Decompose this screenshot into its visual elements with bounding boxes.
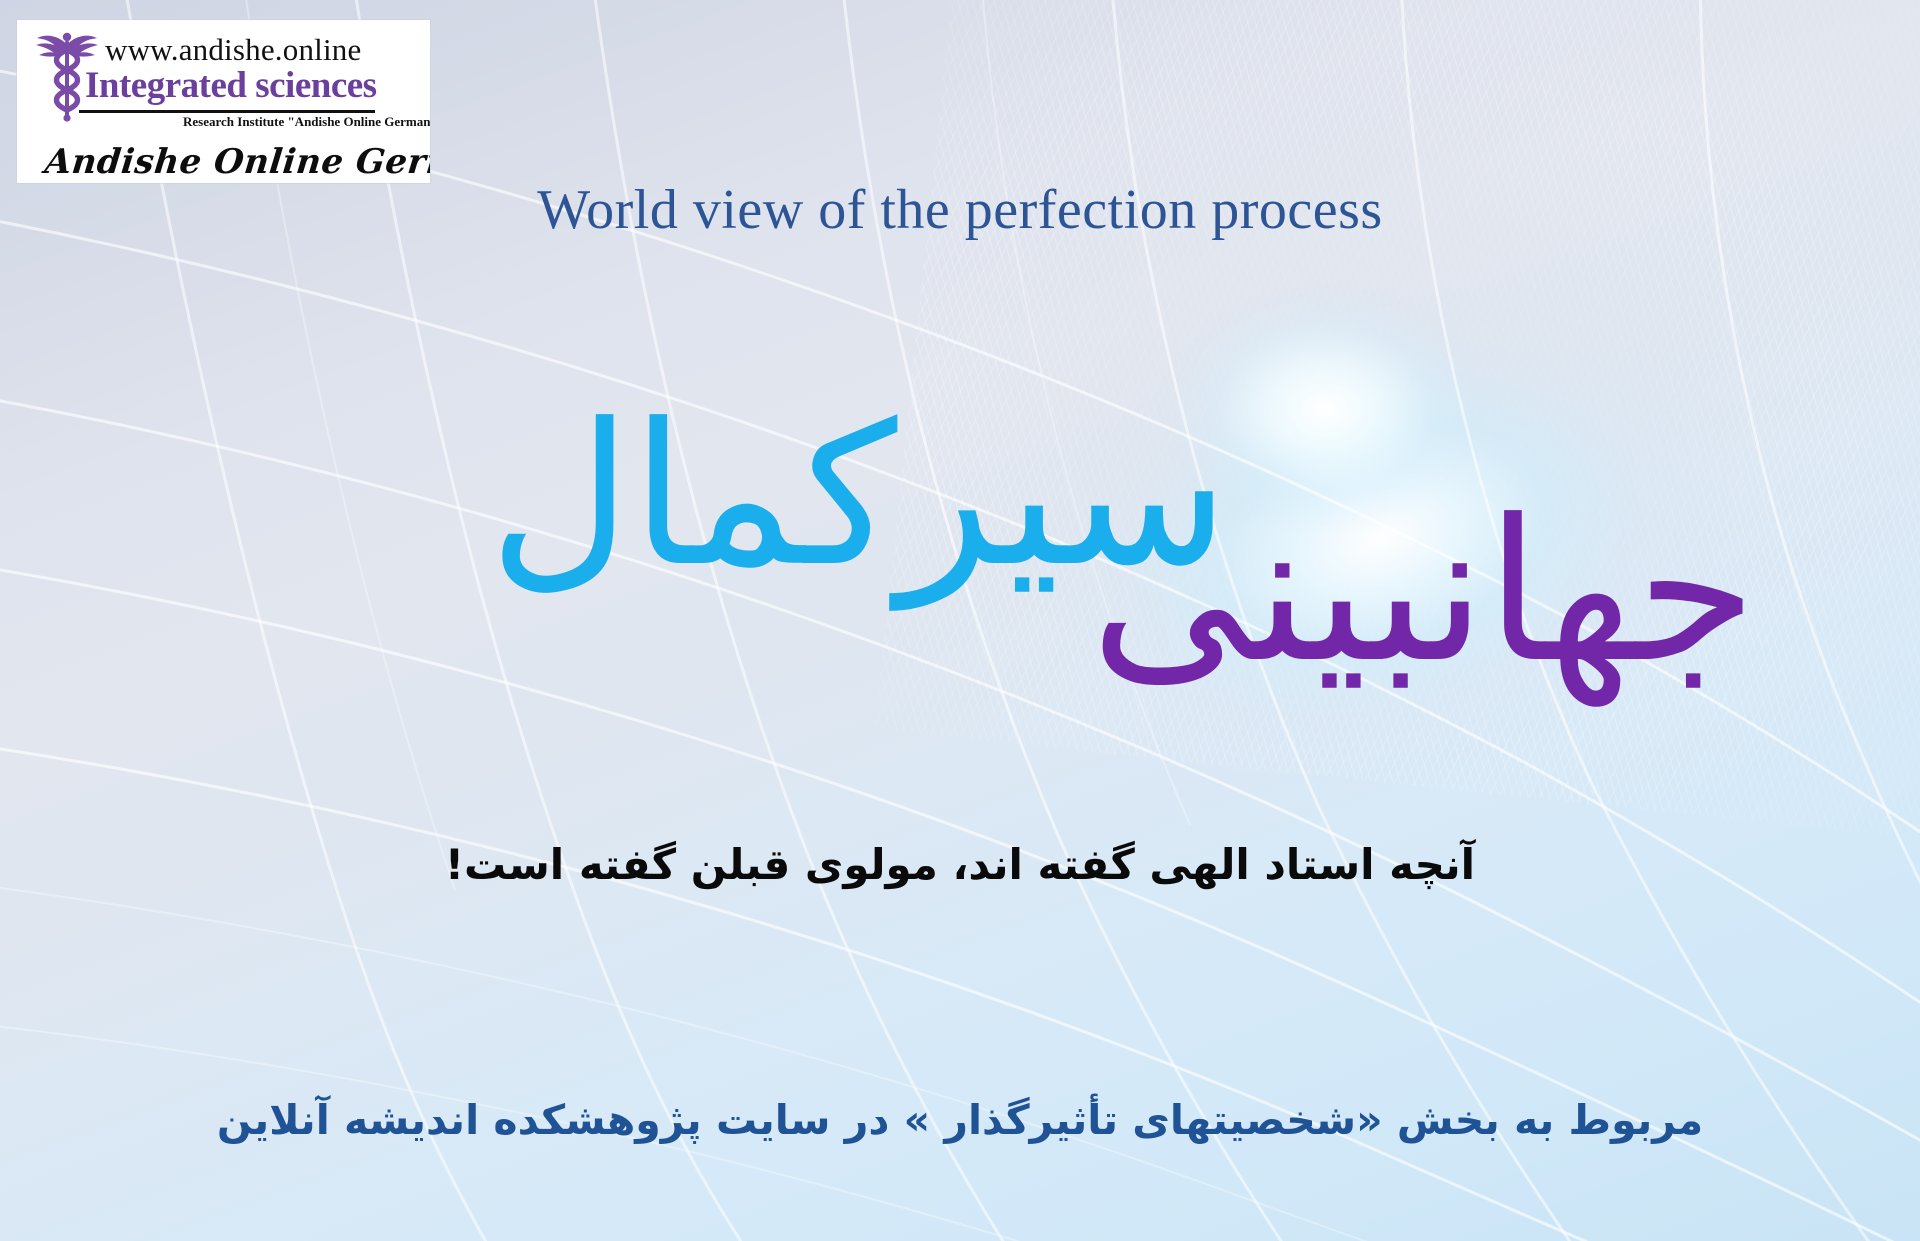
logo-card[interactable]: www.andishe.online Integrated sciences R… [17, 20, 430, 183]
logo-primary-row: www.andishe.online Integrated sciences R… [17, 20, 430, 130]
logo-institute: Research Institute "Andishe Online Germa… [183, 114, 430, 130]
persian-subtitle: آنچه استاد الهی گفته اند، مولوی قبلن گفت… [0, 840, 1920, 889]
hero-title-inner: جهانبینی سیرکمال جهانبینی سیرکمال [163, 398, 1757, 626]
persian-credit-line: مربوط به بخش «شخصیتهای تأثیرگذار » در سا… [0, 1096, 1920, 1144]
logo-divider [79, 110, 375, 113]
logo-title: Integrated sciences [85, 64, 377, 107]
logo-url[interactable]: www.andishe.online [105, 32, 361, 68]
poster-canvas: www.andishe.online Integrated sciences R… [0, 0, 1920, 1241]
hero-word-perfection: سیرکمال [489, 398, 1229, 594]
logo-script-name: Andishe Online Germany [43, 142, 430, 182]
english-title: World view of the perfection process [0, 178, 1920, 242]
hero-title: جهانبینی سیرکمال جهانبینی سیرکمال [0, 398, 1920, 688]
